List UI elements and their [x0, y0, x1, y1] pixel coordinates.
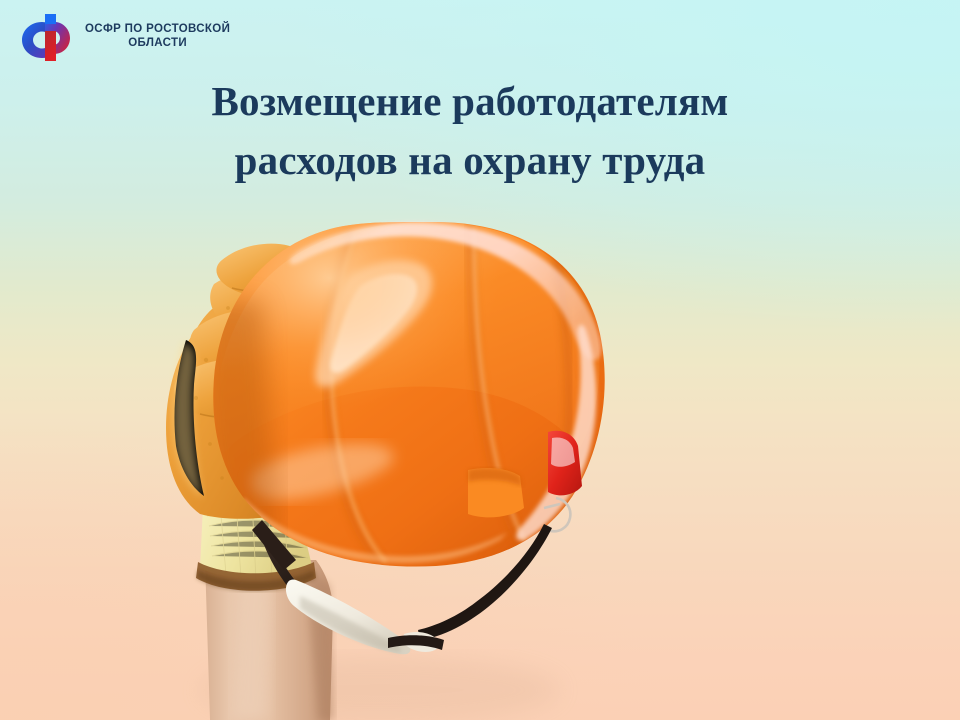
poster-canvas: ОСФР ПО РОСТОВСКОЙ ОБЛАСТИ Возмещение ра…	[0, 0, 960, 720]
logo-line-2: ОБЛАСТИ	[128, 36, 187, 50]
logo-line-1: ОСФР ПО РОСТОВСКОЙ	[85, 22, 230, 36]
forearm-highlight	[232, 575, 272, 720]
logo-wordmark: ОСФР ПО РОСТОВСКОЙ ОБЛАСТИ	[85, 22, 230, 50]
title-line-1: Возмещение работодателям	[20, 72, 920, 131]
osfr-monogram-icon	[14, 9, 76, 63]
page-title: Возмещение работодателям расходов на охр…	[0, 72, 960, 191]
organization-logo: ОСФР ПО РОСТОВСКОЙ ОБЛАСТИ	[14, 9, 230, 63]
title-line-2: расходов на охрану труда	[20, 131, 920, 190]
